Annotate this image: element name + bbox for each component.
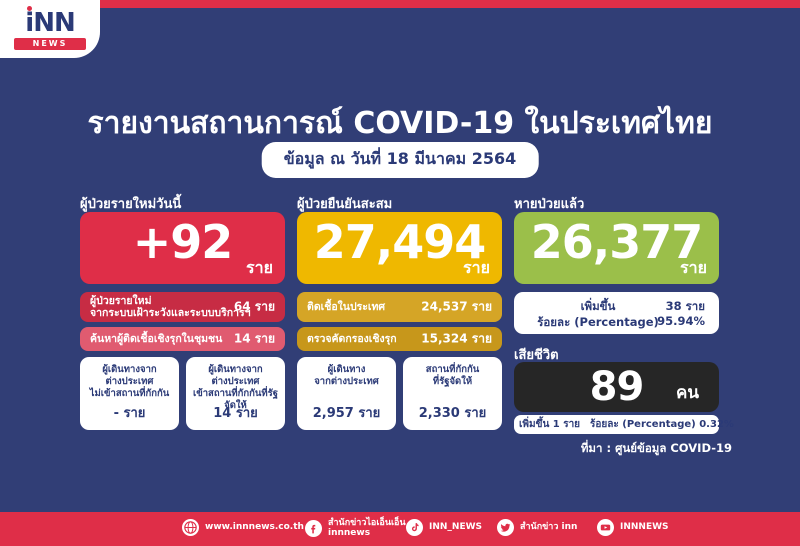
recovered-percent-label: ร้อยละ (Percentage) xyxy=(528,314,668,332)
row-value: 14 ราย xyxy=(234,330,275,349)
twitter-icon xyxy=(497,519,514,536)
new-cases-value-box: +92 ราย xyxy=(80,212,285,284)
row-label: ติดเชื้อในประเทศ xyxy=(307,301,385,313)
footer-label: INNNEWS xyxy=(620,523,669,533)
infographic-page: iNN NEWS รายงานสถานการณ์ COVID-19 ในประเ… xyxy=(0,0,800,546)
card-value: 14 ราย xyxy=(186,402,285,423)
deaths-unit: คน xyxy=(676,379,699,406)
confirmed-value-box: 27,494 ราย xyxy=(297,212,502,284)
footer-label: สำนักข่าวไอเอ็นเอ็น innnews xyxy=(328,519,406,538)
footer-label: www.innnews.co.th xyxy=(205,523,304,533)
card-value: - ราย xyxy=(80,402,179,423)
footer-label-line2: innnews xyxy=(328,529,406,539)
page-title: รายงานสถานการณ์ COVID-19 ในประเทศไทย xyxy=(0,100,800,147)
confirmed-card-from-abroad: ผู้เดินทาง จากต่างประเทศ 2,957 ราย xyxy=(297,357,396,430)
deaths-value-box: 89 คน xyxy=(514,362,719,412)
row-value: 64 ราย xyxy=(234,298,275,317)
youtube-icon xyxy=(597,519,614,536)
confirmed-row-domestic: ติดเชื้อในประเทศ 24,537 ราย xyxy=(297,292,502,322)
facebook-icon xyxy=(305,520,322,537)
footer-item-twitter[interactable]: สำนักข่าว inn xyxy=(497,519,577,536)
footer-label-line1: สำนักข่าวไอเอ็นเอ็น xyxy=(328,518,406,528)
row-label: ค้นหาผู้ติดเชื้อเชิงรุกในชุมชน xyxy=(90,333,222,345)
footer-item-youtube[interactable]: INNNEWS xyxy=(597,519,669,536)
row-label: ผู้ป่วยรายใหม่ จากระบบเฝ้าระวังและระบบบร… xyxy=(90,295,251,319)
footer-item-website[interactable]: www.innnews.co.th xyxy=(182,519,304,536)
logo-news-badge: NEWS xyxy=(14,38,86,50)
footer-item-tiktok[interactable]: INN_NEWS xyxy=(406,519,482,536)
row-value: 15,324 ราย xyxy=(421,330,492,349)
globe-icon xyxy=(182,519,199,536)
new-cases-card-state-quarantine: ผู้เดินทางจาก ต่างประเทศ เข้าสถานที่กักก… xyxy=(186,357,285,430)
new-cases-header: ผู้ป่วยรายใหม่วันนี้ xyxy=(80,193,181,214)
row-value: 24,537 ราย xyxy=(421,298,492,317)
new-cases-unit: ราย xyxy=(246,256,273,281)
logo-wordmark: iNN xyxy=(25,10,74,36)
footer-bar: www.innnews.co.th สำนักข่าวไอเอ็นเอ็น in… xyxy=(0,512,800,546)
footer-item-facebook[interactable]: สำนักข่าวไอเอ็นเอ็น innnews xyxy=(305,519,406,538)
card-label: ผู้เดินทางจาก ต่างประเทศ ไม่เข้าสถานที่ก… xyxy=(83,364,176,400)
card-label: ผู้เดินทาง จากต่างประเทศ xyxy=(300,364,393,388)
top-red-strip xyxy=(0,0,800,8)
card-value: 2,330 ราย xyxy=(403,402,502,423)
recovered-detail-card: เพิ่มขึ้น 38 ราย ร้อยละ (Percentage) 95.… xyxy=(514,292,719,334)
new-cases-row-surveillance: ผู้ป่วยรายใหม่ จากระบบเฝ้าระวังและระบบบร… xyxy=(80,292,285,322)
new-cases-card-no-quarantine: ผู้เดินทางจาก ต่างประเทศ ไม่เข้าสถานที่ก… xyxy=(80,357,179,430)
recovered-unit: ราย xyxy=(680,256,707,281)
confirmed-unit: ราย xyxy=(463,256,490,281)
inn-news-logo: iNN NEWS xyxy=(0,0,100,58)
footer-label: INN_NEWS xyxy=(429,523,482,533)
deaths-percent-text: ร้อยละ (Percentage) 0.32% xyxy=(585,415,739,434)
card-label: สถานที่กักกัน ที่รัฐจัดให้ xyxy=(406,364,499,388)
recovered-value-box: 26,377 ราย xyxy=(514,212,719,284)
recovered-header: หายป่วยแล้ว xyxy=(514,193,584,214)
footer-label: สำนักข่าว inn xyxy=(520,523,577,533)
source-text: ที่มา : ศูนย์ข้อมูล COVID-19 xyxy=(581,440,732,458)
card-value: 2,957 ราย xyxy=(297,402,396,423)
logo-text: iNN xyxy=(25,8,74,38)
row-label: ตรวจคัดกรองเชิงรุก xyxy=(307,333,397,345)
confirmed-header: ผู้ป่วยยืนยันสะสม xyxy=(297,193,392,214)
deaths-detail-pill: เพิ่มขึ้น 1 รายร้อยละ (Percentage) 0.32% xyxy=(514,415,719,434)
recovered-percent-value: 95.94% xyxy=(657,314,705,328)
tiktok-icon xyxy=(406,519,423,536)
date-badge: ข้อมูล ณ วันที่ 18 มีนาคม 2564 xyxy=(262,142,539,178)
confirmed-row-active-screening: ตรวจคัดกรองเชิงรุก 15,324 ราย xyxy=(297,327,502,351)
deaths-increase-text: เพิ่มขึ้น 1 ราย xyxy=(514,415,585,434)
new-cases-row-active-search: ค้นหาผู้ติดเชื้อเชิงรุกในชุมชน 14 ราย xyxy=(80,327,285,351)
confirmed-card-state-quarantine: สถานที่กักกัน ที่รัฐจัดให้ 2,330 ราย xyxy=(403,357,502,430)
